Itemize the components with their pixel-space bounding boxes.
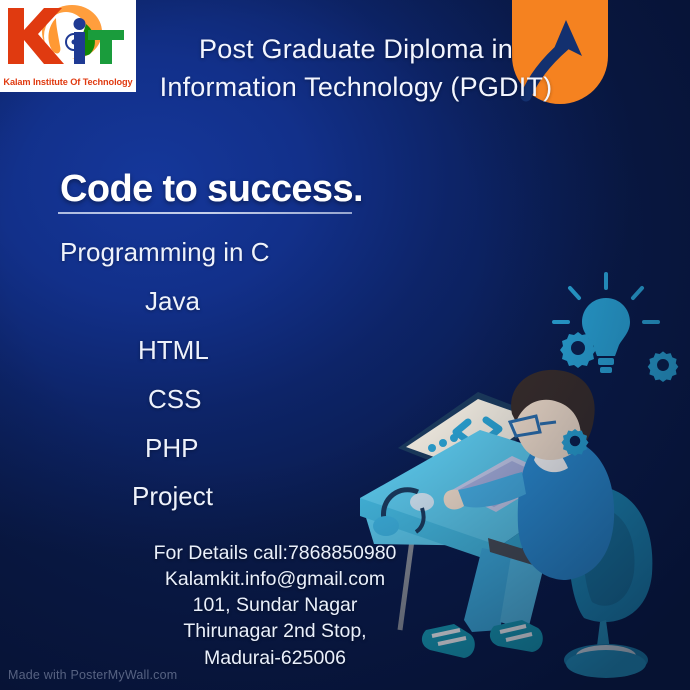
logo-caption: Kalam Institute Of Technology xyxy=(0,77,136,87)
poster-canvas: Kalam Institute Of Technology Post Gradu… xyxy=(0,0,690,690)
course-list: Programming in C Java HTML CSS PHP Proje… xyxy=(40,228,320,521)
course-item: Programming in C xyxy=(60,228,320,277)
contact-address-line-2: Thirunagar 2nd Stop, xyxy=(105,618,445,644)
gear-icon xyxy=(558,328,598,368)
headline: Code to success. xyxy=(60,168,363,211)
logo: Kalam Institute Of Technology xyxy=(0,0,136,92)
page-title-line-2: Information Technology (PGDIT) xyxy=(150,68,562,106)
watermark: Made with PosterMyWall.com xyxy=(8,668,177,682)
headline-underline xyxy=(58,212,352,214)
page-title-line-1: Post Graduate Diploma in xyxy=(150,30,562,68)
contact-address-line-3: Madurai-625006 xyxy=(105,645,445,671)
course-item: Project xyxy=(132,472,320,521)
page-title: Post Graduate Diploma in Information Tec… xyxy=(150,30,562,107)
contact-block: For Details call:7868850980 Kalamkit.inf… xyxy=(105,540,445,671)
kit-logo-mark xyxy=(0,2,136,70)
gear-icon xyxy=(646,348,680,382)
contact-phone: For Details call:7868850980 xyxy=(105,540,445,566)
course-item: PHP xyxy=(145,424,320,473)
course-item: CSS xyxy=(148,375,320,424)
gear-icon xyxy=(560,426,590,456)
course-item: HTML xyxy=(138,326,320,375)
contact-address-line-1: 101, Sundar Nagar xyxy=(105,592,445,618)
course-item: Java xyxy=(145,277,320,326)
contact-email: Kalamkit.info@gmail.com xyxy=(105,566,445,592)
